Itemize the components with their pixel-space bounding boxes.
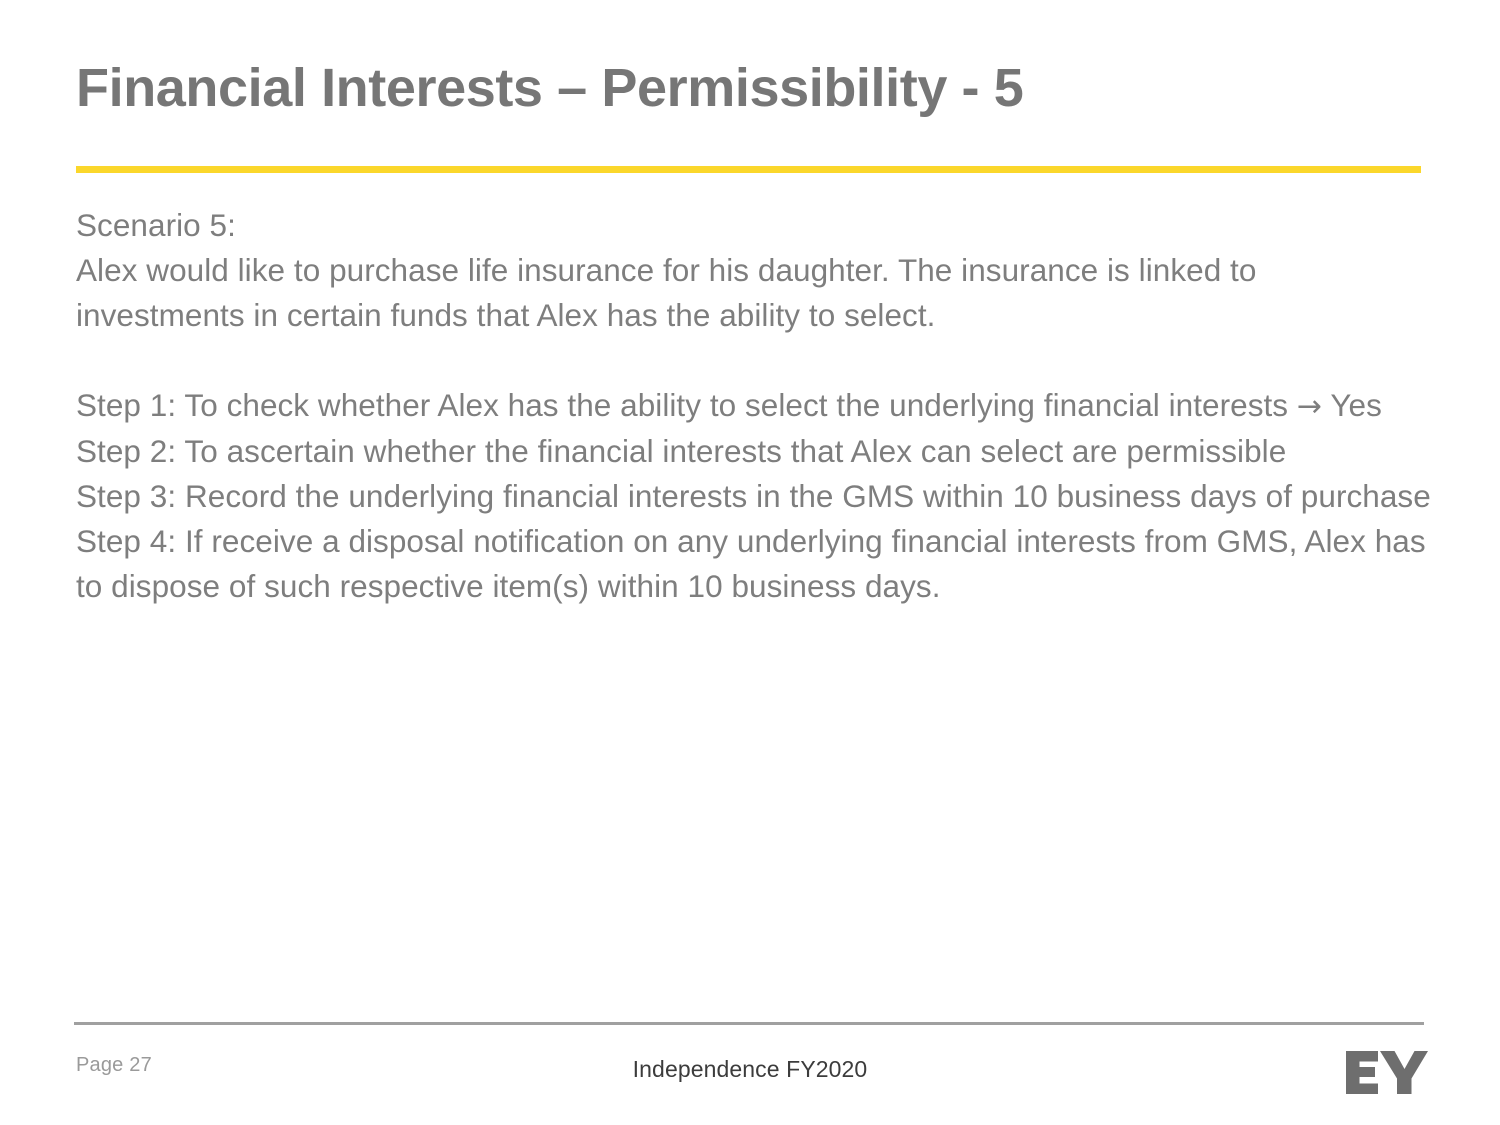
right-arrow-icon: → <box>1297 389 1322 424</box>
page-title: Financial Interests – Permissibility - 5 <box>76 58 1426 118</box>
footer-deck-title: Independence FY2020 <box>0 1056 1500 1083</box>
step-3: Step 3: Record the underlying financial … <box>76 474 1431 519</box>
step-1-text-after-arrow: Yes <box>1322 387 1382 423</box>
step-4: Step 4: If receive a disposal notificati… <box>76 519 1431 609</box>
step-2: Step 2: To ascertain whether the financi… <box>76 429 1431 474</box>
slide: Financial Interests – Permissibility - 5… <box>0 0 1500 1125</box>
scenario-description: Alex would like to purchase life insuran… <box>76 248 1431 338</box>
step-1-text-before-arrow: Step 1: To check whether Alex has the ab… <box>76 387 1297 423</box>
scenario-label: Scenario 5: <box>76 203 1431 248</box>
slide-body: Scenario 5: Alex would like to purchase … <box>76 203 1431 609</box>
step-1: Step 1: To check whether Alex has the ab… <box>76 383 1431 429</box>
title-accent-rule <box>76 166 1421 173</box>
ey-logo-icon <box>1344 1045 1428 1101</box>
footer-divider <box>74 1022 1424 1025</box>
